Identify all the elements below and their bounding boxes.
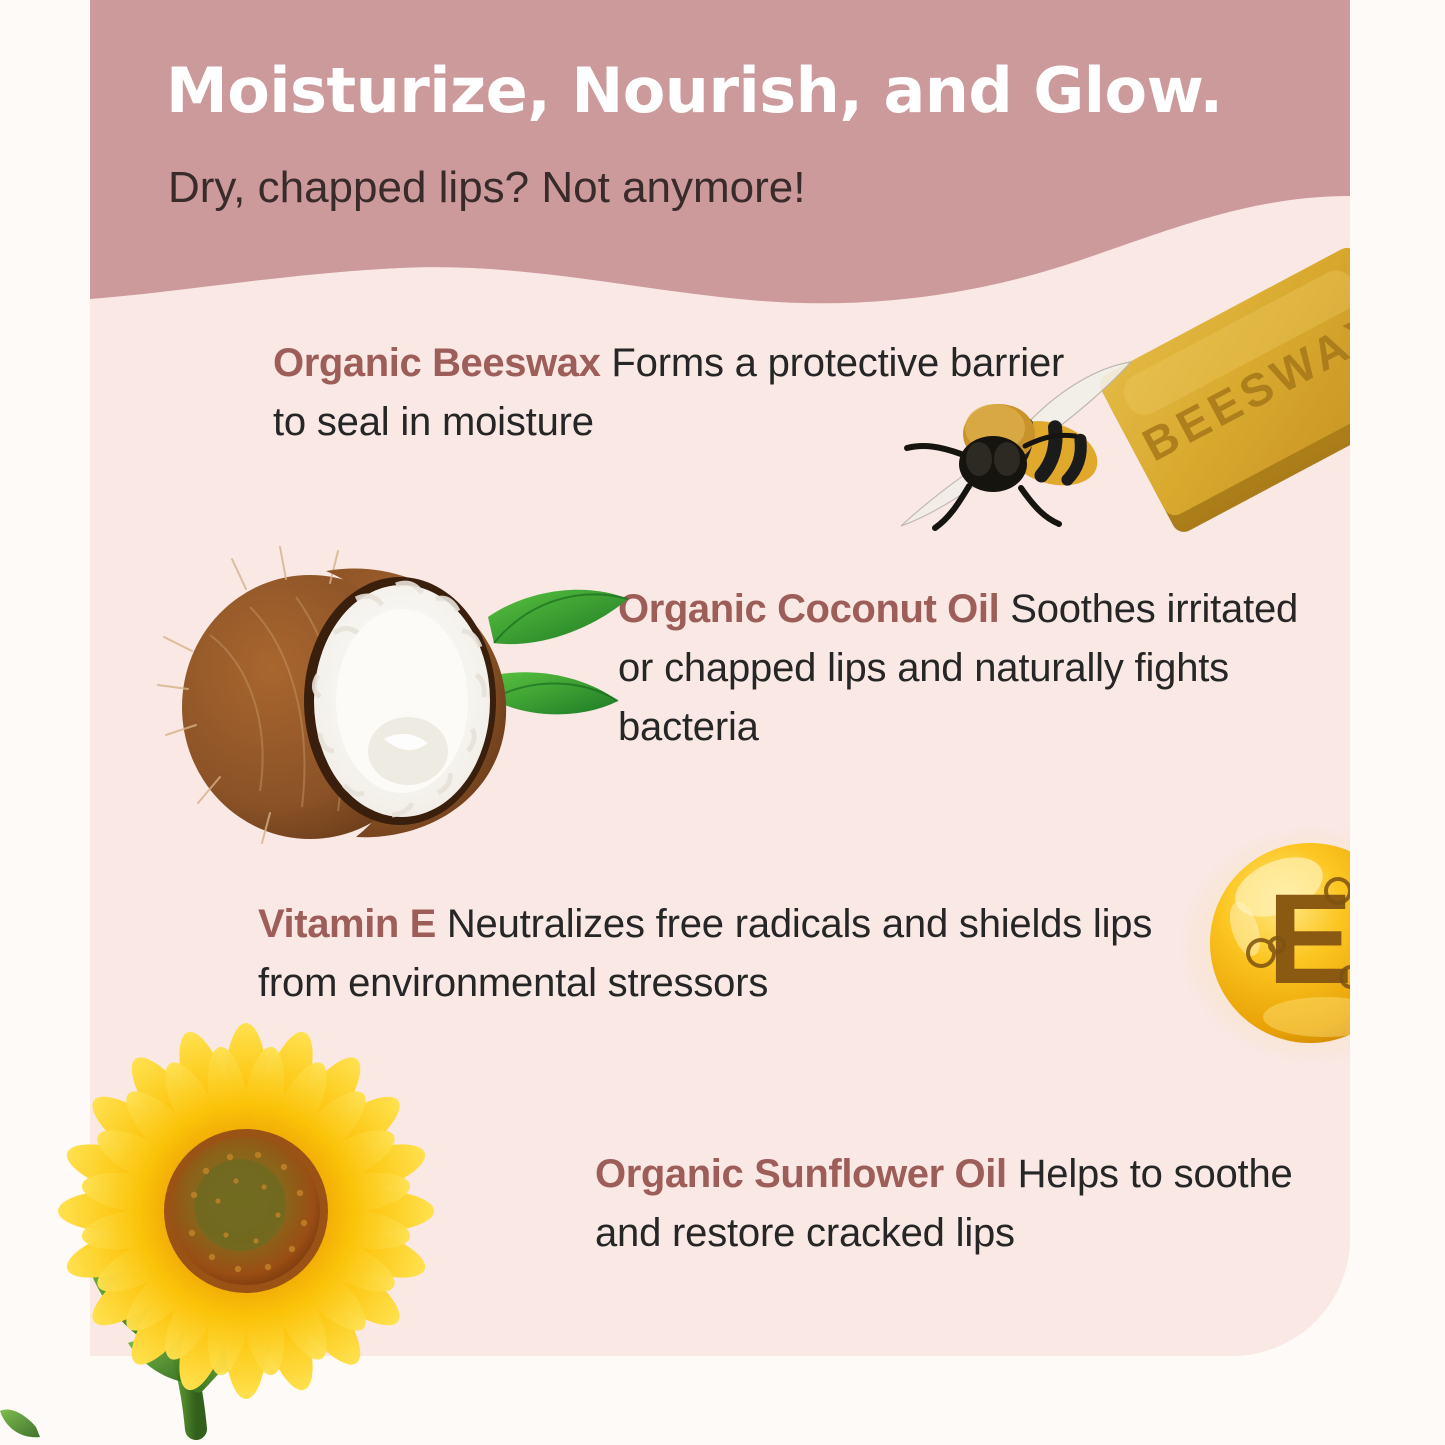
ingredient-text-beeswax: Organic Beeswax Forms a protective barri… [273, 334, 1103, 452]
ingredient-space [436, 902, 447, 946]
coconut-leaf-icon [488, 590, 628, 715]
vitamin-e-capsule-icon: E [1175, 825, 1350, 1070]
ingredient-text-sunflower: Organic Sunflower Oil Helps to soothe an… [595, 1145, 1335, 1263]
ingredient-name-vitamin-e: Vitamin E [258, 902, 436, 946]
infographic-stage: Moisturize, Nourish, and Glow. Dry, chap… [0, 0, 1445, 1445]
ingredient-text-coconut: Organic Coconut Oil Soothes irritated or… [618, 580, 1318, 758]
ingredient-name-sunflower: Organic Sunflower Oil [595, 1152, 1007, 1196]
ingredient-name-beeswax: Organic Beeswax [273, 341, 601, 385]
sunflower-icon [0, 1025, 480, 1445]
coconut-icon [150, 525, 640, 860]
sunflower-petals [58, 1023, 434, 1399]
ingredient-space [999, 587, 1010, 631]
ingredient-space [1007, 1152, 1018, 1196]
ingredient-name-coconut: Organic Coconut Oil [618, 587, 999, 631]
ingredient-text-vitamin-e: Vitamin E Neutralizes free radicals and … [258, 895, 1178, 1013]
ingredient-space [601, 341, 612, 385]
